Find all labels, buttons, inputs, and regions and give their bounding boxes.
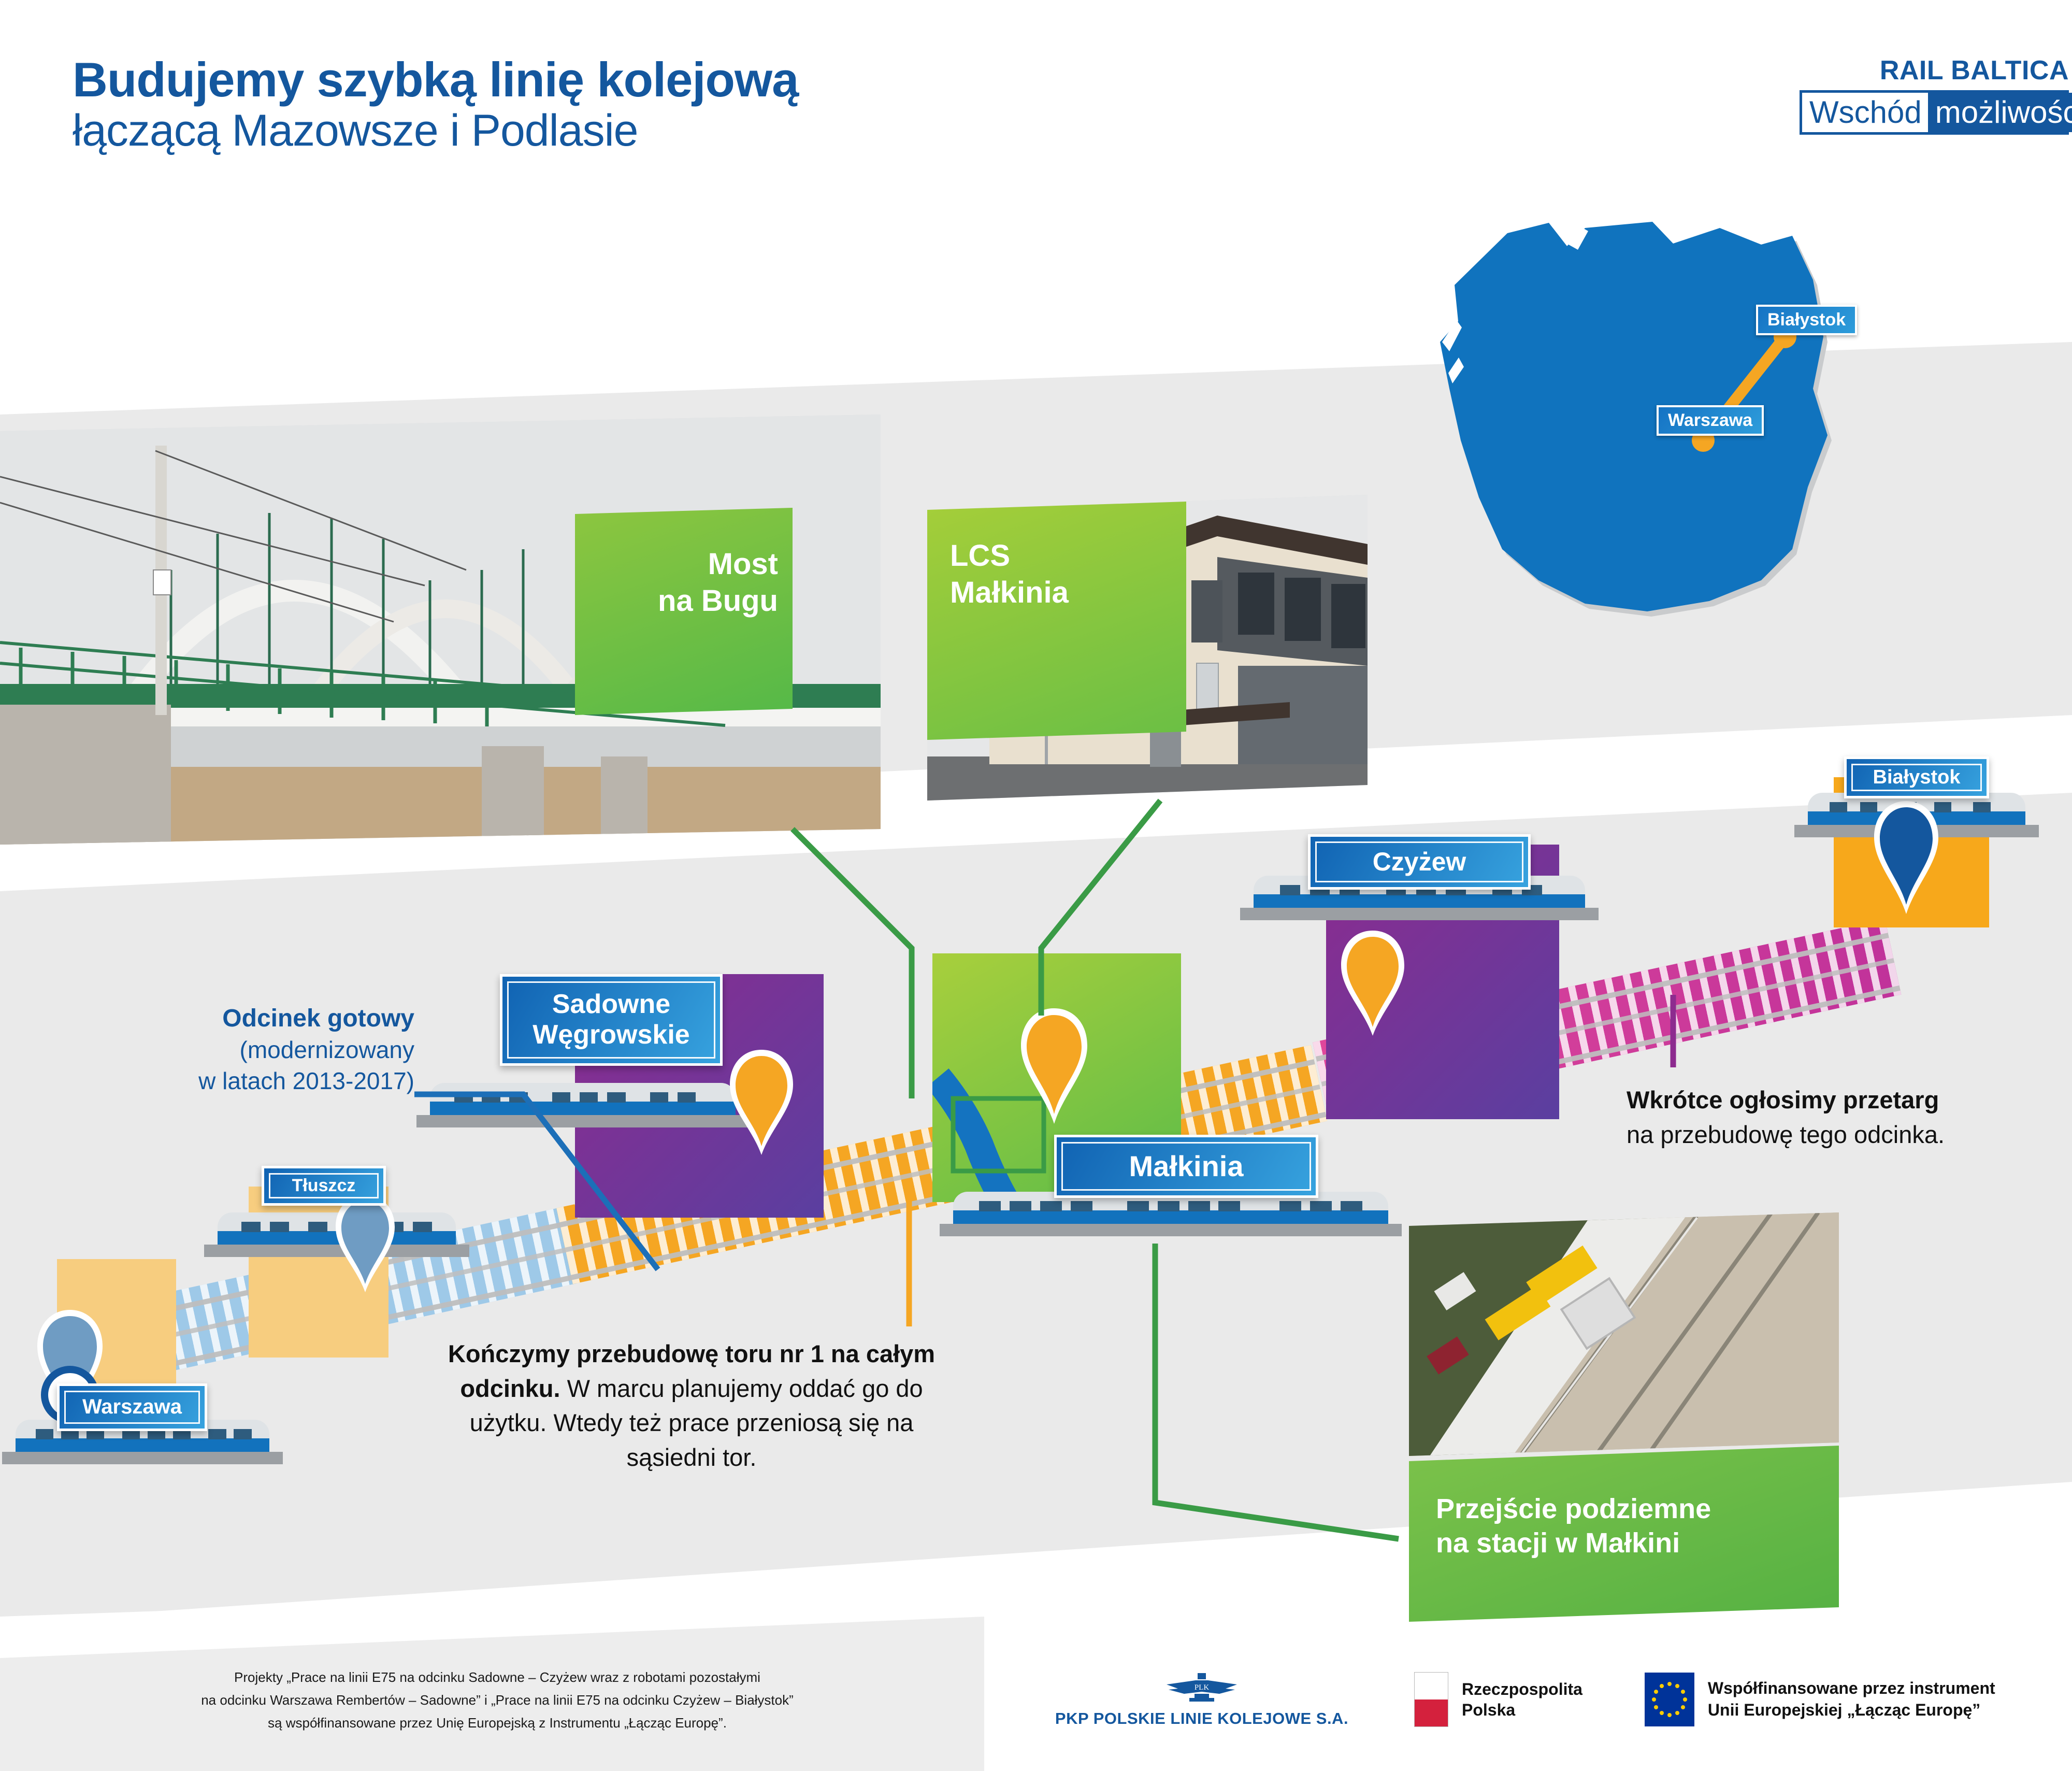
footer-note-line-1: Projekty „Prace na linii E75 na odcinku … [155,1666,839,1689]
pin-bialystok[interactable] [1870,798,1942,917]
pkp-winged-wheel-icon: PLK [1165,1671,1238,1705]
annotation-right: Wkrótce ogłosimy przetargna przebudowę t… [1627,1083,2072,1152]
pin-sadowne[interactable] [725,1047,798,1158]
footer-note-line-3: są współfinansowane przez Unię Europejsk… [155,1711,839,1734]
map-label-warszawa: Warszawa [1657,405,1764,436]
caption-most-na-bugu: Mostna Bugu [575,546,778,620]
poland-caption-line-1: Rzeczpospolita [1462,1679,1582,1699]
pkp-plk-logo: PLK PKP POLSKIE LINIE KOLEJOWE S.A. [1052,1671,1352,1728]
caption-tile-most-na-bugu: Mostna Bugu [575,508,793,715]
mozliwosci-word: możliwości [1928,93,2072,132]
station-sign-warszawa: Warszawa [57,1383,207,1431]
poland-caption-line-2: Polska [1462,1699,1582,1720]
title-line-2: łączącą Mazowsze i Podlasie [73,106,798,155]
eu-caption: Współfinansowane przez instrument Unii E… [1708,1678,1995,1721]
rail-baltica-logo: RAIL BALTICA Wschód możliwości [1782,57,2072,135]
pin-czyzew[interactable] [1336,927,1409,1039]
map-label-bialystok: Białystok [1756,305,1857,335]
caption-tile-lcs-malkinia: LCSMałkinia [927,502,1186,740]
pin-malkinia[interactable] [1015,1005,1093,1127]
infographic-canvas: Budujemy szybką linię kolejową łączącą M… [0,0,2072,1771]
station-sign-tluszcz: Tłuszcz [262,1166,386,1206]
caption-tile-przejscie-podziemne: Przejście podziemnena stacji w Małkini [1409,1446,1839,1622]
poland-map: Białystok Warszawa [1430,218,1927,648]
baltica-word: BALTICA [1943,55,2069,85]
eu-caption-line-2: Unii Europejskiej „Łącząc Europę” [1708,1699,1995,1721]
pin-tluszcz[interactable] [332,1192,399,1295]
rail-baltica-wordmark: RAIL BALTICA [1782,57,2072,84]
station-sign-czyzew: Czyżew [1308,834,1531,890]
footer-note-line-2: na odcinku Warszawa Rembertów – Sadowne”… [155,1689,839,1711]
station-sign-bialystok: Białystok [1844,756,1989,798]
photo-przejscie-podziemne [1409,1212,1839,1456]
eu-caption-line-1: Współfinansowane przez instrument [1708,1678,1995,1699]
annotation-right-bold: Wkrótce ogłosimy przetarg [1627,1083,2072,1118]
annotation-left: Odcinek gotowy (modernizowany w latach 2… [93,1003,414,1097]
station-sign-malkinia: Małkinia [1054,1135,1318,1198]
caption-lcs-malkinia: LCSMałkinia [950,538,1069,611]
caption-przejscie-podziemne: Przejście podziemnena stacji w Małkini [1436,1492,1711,1561]
footer-funding-note: Projekty „Prace na linii E75 na odcinku … [155,1666,839,1735]
annotation-center: Kończymy przebudowę toru nr 1 na całym o… [430,1337,953,1475]
annotation-left-line2: (modernizowany [93,1035,414,1066]
page-title: Budujemy szybką linię kolejową łączącą M… [73,54,798,155]
poland-emblem-group: Rzeczpospolita Polska [1414,1672,1582,1727]
title-line-1: Budujemy szybką linię kolejową [73,54,798,106]
poland-flag-icon [1414,1672,1448,1727]
eu-flag-icon [1645,1673,1694,1726]
underpass-photo-art [1409,1212,1839,1456]
rail-word: RAIL [1880,55,1943,85]
wschod-mozliwosci-bar: Wschód możliwości [1800,90,2069,135]
poland-caption: Rzeczpospolita Polska [1462,1679,1582,1720]
annotation-left-line3: w latach 2013-2017) [93,1066,414,1097]
pkp-company-name: PKP POLSKIE LINIE KOLEJOWE S.A. [1052,1709,1352,1728]
plk-mark-text: PLK [1195,1683,1210,1692]
train-sadowne [430,1083,736,1127]
footer-logos: PLK PKP POLSKIE LINIE KOLEJOWE S.A. Rzec… [1052,1671,1995,1728]
annotation-right-rest: na przebudowę tego odcinka. [1627,1121,1945,1148]
eu-emblem-group: Współfinansowane przez instrument Unii E… [1645,1673,1995,1726]
train-malkinia [953,1192,1388,1236]
station-sign-sadowne-wegrowskie: SadowneWęgrowskie [500,974,723,1066]
annotation-left-bold: Odcinek gotowy [93,1003,414,1035]
wschod-word: Wschód [1802,93,1928,132]
